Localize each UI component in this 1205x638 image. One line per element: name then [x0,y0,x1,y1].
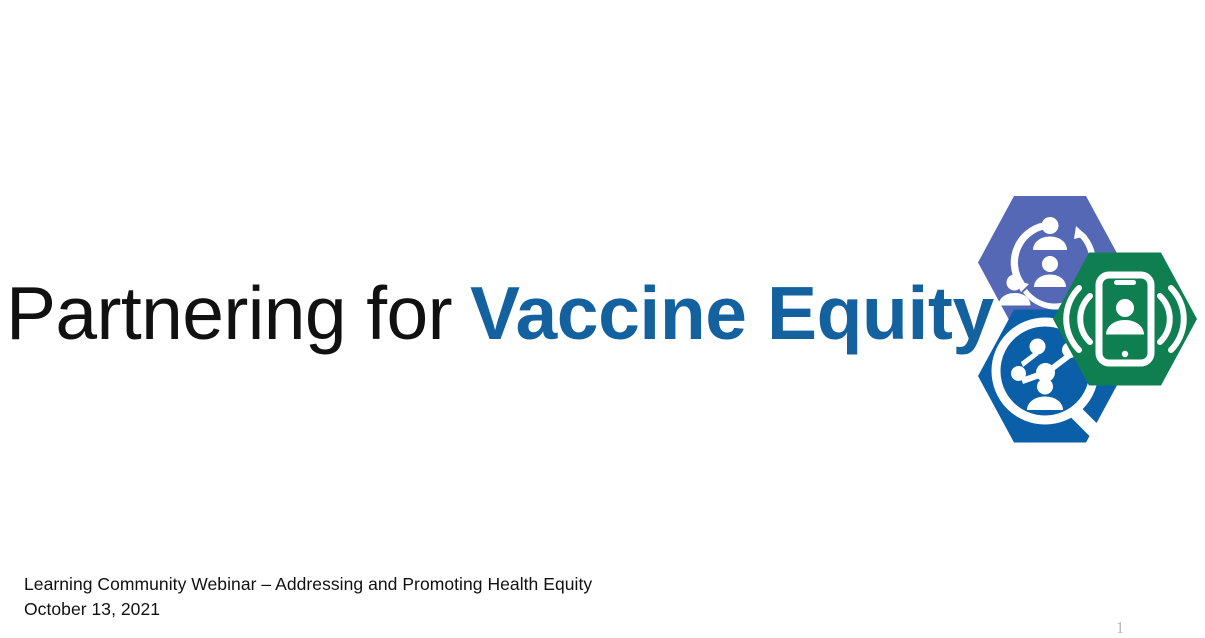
page-number: 1 [1108,618,1132,638]
slide-footer: Learning Community Webinar – Addressing … [24,572,884,622]
footer-date: October 13, 2021 [24,597,884,622]
page-title-accent: Vaccine Equity [470,276,994,351]
partnering-for-vaccine-equity-logo [941,190,1199,448]
page-title-plain: Partnering for [6,276,452,351]
footer-subtitle: Learning Community Webinar – Addressing … [24,572,884,597]
slide-canvas: Partnering for Vaccine Equity [0,0,1205,637]
page-title: Partnering for Vaccine Equity [6,276,936,368]
